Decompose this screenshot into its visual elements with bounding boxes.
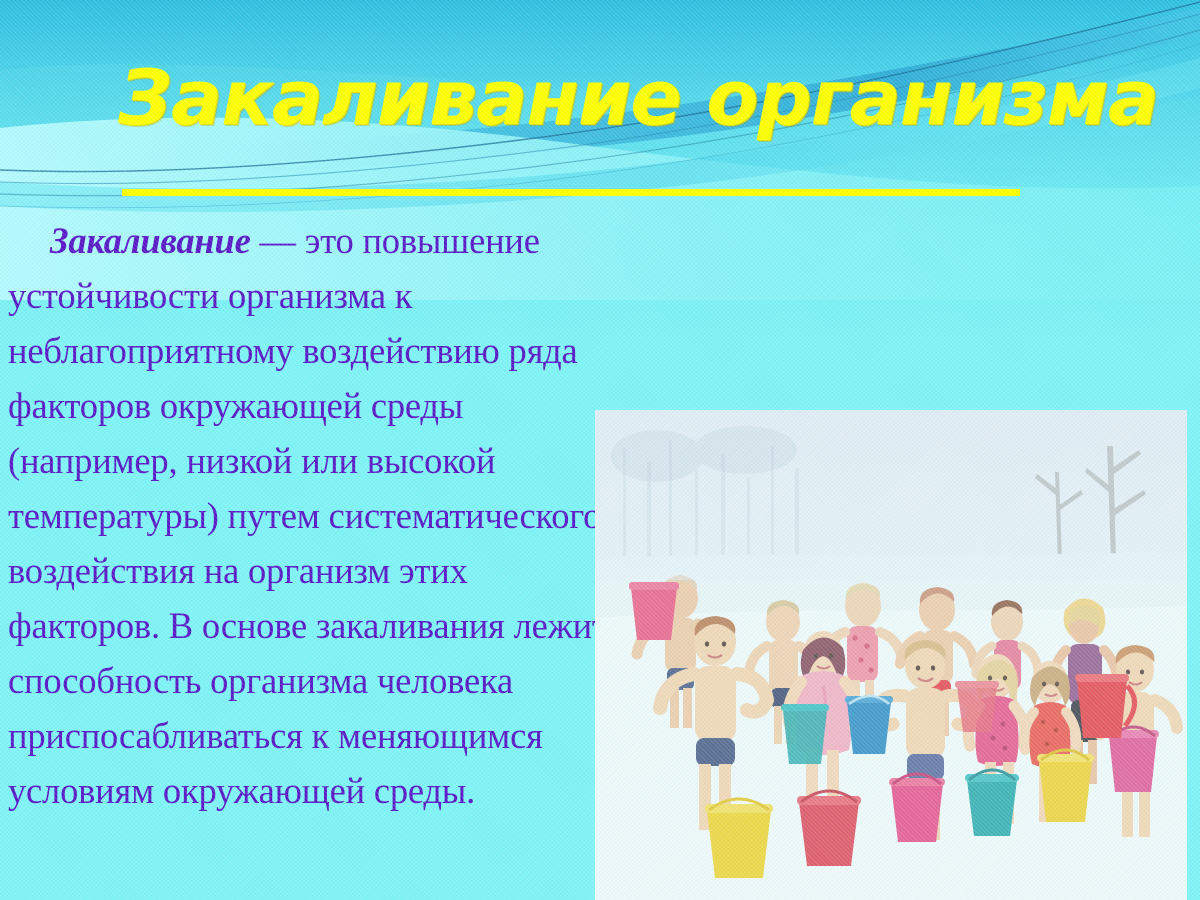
page-title: Закаливание организма [118, 58, 1158, 138]
hardening-photo [595, 410, 1187, 900]
body-rest-text: — это повышение устойчивости организма к… [8, 220, 608, 811]
slide-title-block: Закаливание организма [0, 58, 1200, 153]
body-lead-term: Закаливание [50, 220, 251, 261]
slide-body-paragraph: Закаливание — это повышение устойчивости… [8, 213, 608, 818]
title-underline [122, 189, 1020, 196]
photo-illustration [595, 410, 1187, 900]
presentation-slide: Закаливание организма Закаливание — это … [0, 0, 1200, 900]
